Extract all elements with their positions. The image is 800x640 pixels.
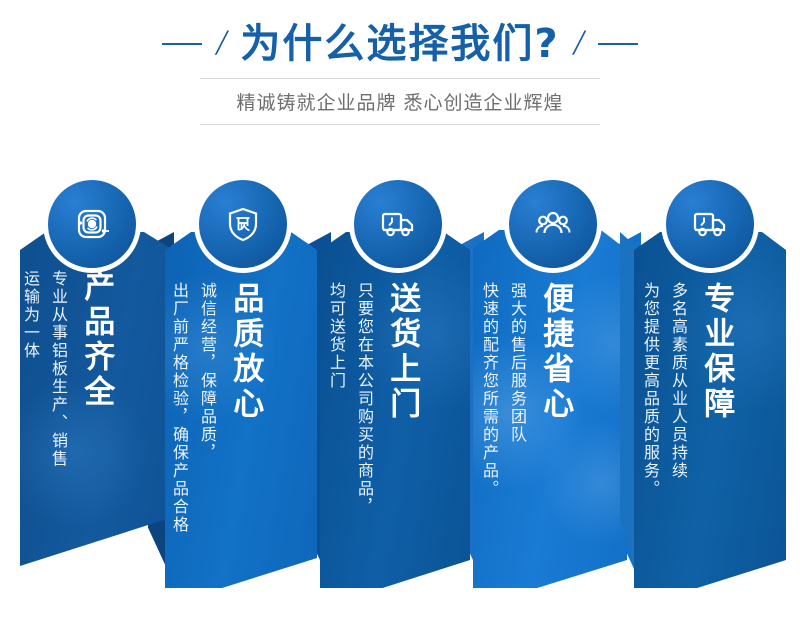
panel-desc-4-col-2: 快速的配齐您所需的产品。 xyxy=(477,282,501,498)
feature-panel-3[interactable]: 送货上门 只要您在本公司购买的商品， 均可送货上门 xyxy=(310,170,485,600)
rule-left xyxy=(162,43,202,45)
slash-right-icon: / xyxy=(560,24,598,60)
panel-text-5: 专业保障 多名高素质从业人员持续 为您提供更高品质的服务。 xyxy=(638,282,732,498)
panel-icon-badge-3 xyxy=(354,180,442,268)
subtitle: 精诚铸就企业品牌 悉心创造企业辉煌 xyxy=(200,79,600,124)
rule-right xyxy=(598,43,638,45)
panel-icon-badge-5 xyxy=(666,180,754,268)
delivery-truck-icon xyxy=(375,201,421,247)
panel-desc-4: 强大的售后服务团队 快速的配齐您所需的产品。 xyxy=(477,282,529,498)
panel-icon-badge-2 xyxy=(199,180,287,268)
panel-title-4: 便捷省心 xyxy=(539,282,571,422)
panel-title-5: 专业保障 xyxy=(700,282,732,422)
feature-panel-5[interactable]: 专业保障 多名高素质从业人员持续 为您提供更高品质的服务。 xyxy=(620,170,800,600)
panel-text-4: 便捷省心 强大的售后服务团队 快速的配齐您所需的产品。 xyxy=(477,282,571,498)
delivery-truck-icon xyxy=(687,201,733,247)
subtitle-block: 精诚铸就企业品牌 悉心创造企业辉煌 xyxy=(200,78,600,125)
panel-icon-badge-1 xyxy=(48,180,136,268)
panel-desc-3-col-2: 均可送货上门 xyxy=(324,282,348,390)
feature-panel-1[interactable]: 产品齐全 专业从事铝板生产、销售 运输为一体 xyxy=(0,170,175,600)
page-title: 为什么选择我们? xyxy=(240,24,559,64)
panel-title-3: 送货上门 xyxy=(386,282,418,422)
divider-bottom xyxy=(200,124,600,125)
panel-desc-1: 专业从事铝板生产、销售 运输为一体 xyxy=(18,270,70,468)
feature-panels: 产品齐全 专业从事铝板生产、销售 运输为一体 xyxy=(0,170,800,600)
panel-title-2: 品质放心 xyxy=(229,282,261,422)
product-box-icon xyxy=(69,201,115,247)
panel-text-1: 产品齐全 专业从事铝板生产、销售 运输为一体 xyxy=(18,270,112,468)
panel-text-2: 品质放心 诚信经营，保障品质， 出厂前严格检验，确保产品合格 xyxy=(167,282,261,534)
panel-title-1: 产品齐全 xyxy=(80,270,112,410)
header: / 为什么选择我们? / 精诚铸就企业品牌 悉心创造企业辉煌 xyxy=(0,0,800,150)
panel-desc-4-col-1: 强大的售后服务团队 xyxy=(505,282,529,444)
panel-desc-1-col-1: 专业从事铝板生产、销售 xyxy=(46,270,70,468)
panel-desc-3: 只要您在本公司购买的商品， 均可送货上门 xyxy=(324,282,376,516)
panel-icon-badge-4 xyxy=(509,180,597,268)
panel-desc-2: 诚信经营，保障品质， 出厂前严格检验，确保产品合格 xyxy=(167,282,219,534)
quality-shield-icon xyxy=(221,202,265,246)
panel-desc-1-col-2: 运输为一体 xyxy=(18,270,42,360)
feature-panel-4[interactable]: 便捷省心 强大的售后服务团队 快速的配齐您所需的产品。 xyxy=(465,170,640,600)
panel-desc-2-col-1: 诚信经营，保障品质， xyxy=(195,282,219,462)
feature-panel-2[interactable]: 品质放心 诚信经营，保障品质， 出厂前严格检验，确保产品合格 xyxy=(155,170,330,600)
promo-banner: / 为什么选择我们? / 精诚铸就企业品牌 悉心创造企业辉煌 xyxy=(0,0,800,640)
service-team-icon xyxy=(530,201,576,247)
panel-desc-5: 多名高素质从业人员持续 为您提供更高品质的服务。 xyxy=(638,282,690,498)
panel-desc-2-col-2: 出厂前严格检验，确保产品合格 xyxy=(167,282,191,534)
panel-desc-5-col-1: 多名高素质从业人员持续 xyxy=(666,282,690,480)
panel-desc-3-col-1: 只要您在本公司购买的商品， xyxy=(352,282,376,516)
title-row: / 为什么选择我们? / xyxy=(0,18,800,70)
panel-desc-5-col-2: 为您提供更高品质的服务。 xyxy=(638,282,662,498)
panel-text-3: 送货上门 只要您在本公司购买的商品， 均可送货上门 xyxy=(324,282,418,516)
slash-left-icon: / xyxy=(202,24,240,60)
